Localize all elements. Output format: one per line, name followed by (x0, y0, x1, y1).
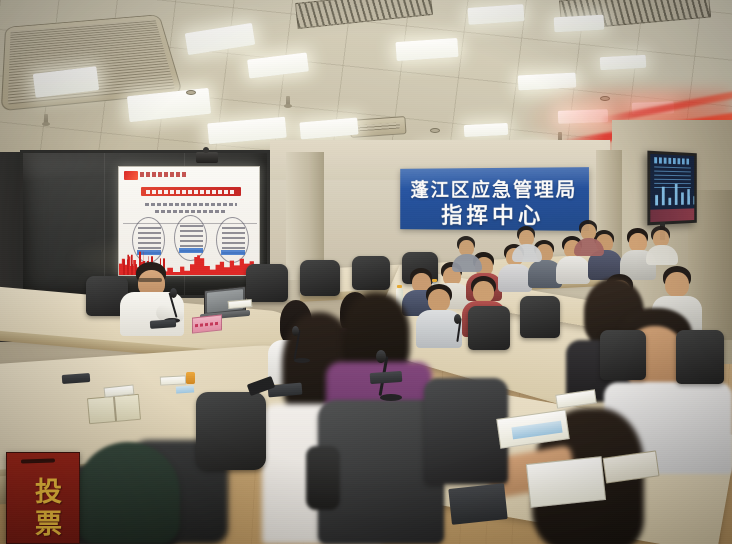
smoke-detector-icon (430, 128, 440, 133)
slide-oval-highlight (179, 248, 203, 253)
vent-grille-icon (8, 19, 175, 104)
microphone-head-icon (376, 350, 386, 363)
dashboard-footer (650, 208, 694, 222)
microphone-head-icon (292, 326, 299, 336)
slide-oval-3 (216, 217, 249, 263)
chair[interactable] (352, 256, 390, 290)
microphone-head-icon (170, 288, 177, 298)
microphone-base (294, 358, 310, 363)
chair[interactable] (424, 378, 508, 484)
handout-blue (176, 385, 194, 393)
person-attendee (574, 220, 604, 254)
chair[interactable] (246, 264, 288, 302)
slide-logo-text (140, 172, 186, 177)
sprinkler-icon (286, 96, 290, 105)
ballot-label-char2: 票 (35, 511, 73, 538)
dashboard-rows (654, 166, 691, 189)
person-body (574, 238, 604, 256)
smoke-detector-icon (186, 90, 196, 95)
person-body (452, 254, 482, 272)
ballot-slot (21, 458, 55, 463)
chair[interactable] (300, 260, 340, 296)
person-body (512, 244, 542, 262)
sign-title-line2: 指挥中心 (400, 198, 589, 231)
conference-room-photo: 蓬江区应急管理局 指挥中心 (0, 0, 732, 544)
person-head (473, 281, 494, 303)
ballot-label-char1: 投 (35, 479, 73, 506)
eyeglasses-icon (138, 278, 162, 282)
desk-pad (62, 373, 91, 384)
ballot-box: 投 票 (6, 452, 80, 544)
slide-subtitle-line (145, 203, 237, 206)
person-body (646, 245, 678, 265)
desk-pad (448, 483, 507, 525)
person-attendee (452, 236, 482, 270)
ceiling-light-panel (600, 55, 647, 70)
chair-green-leather[interactable] (76, 442, 180, 544)
person-attendee (646, 226, 678, 264)
sprinkler-icon (44, 114, 48, 123)
slide-logo-icon (124, 171, 138, 180)
microphone-base (380, 394, 402, 401)
slide-oval-highlight (221, 250, 245, 255)
person-attendee (512, 226, 542, 260)
name-tent-text (195, 321, 219, 327)
slide-subtitle-line (155, 210, 227, 213)
slide-title-text (146, 190, 236, 194)
drinking-cup (186, 372, 195, 384)
microphone-head-icon (454, 314, 461, 324)
document-handout (526, 456, 606, 508)
vent-grille-icon (356, 122, 400, 131)
notebook-spine (113, 397, 117, 421)
command-center-sign: 蓬江区应急管理局 指挥中心 (400, 167, 589, 231)
loose-paper (160, 375, 186, 385)
chair[interactable] (196, 392, 266, 470)
desk-pad (370, 371, 403, 384)
chair[interactable] (676, 330, 724, 384)
ceiling-light-panel (464, 123, 509, 137)
dashboard-header (654, 157, 691, 164)
person-head (665, 272, 689, 297)
presentation-slide[interactable] (118, 166, 260, 276)
wall-mounted-dashboard-monitor[interactable] (647, 151, 696, 226)
slide-oval-2 (174, 215, 207, 261)
ceiling-light-panel (554, 15, 605, 33)
name-tent-card (192, 314, 222, 333)
open-notebook (87, 394, 141, 424)
chair[interactable] (520, 296, 560, 338)
video-camera-icon (196, 152, 218, 163)
chair[interactable] (468, 306, 510, 350)
chair[interactable] (600, 330, 646, 380)
chair-armrest (306, 446, 340, 510)
document-stack (228, 299, 253, 309)
slide-oval-1 (132, 217, 165, 263)
